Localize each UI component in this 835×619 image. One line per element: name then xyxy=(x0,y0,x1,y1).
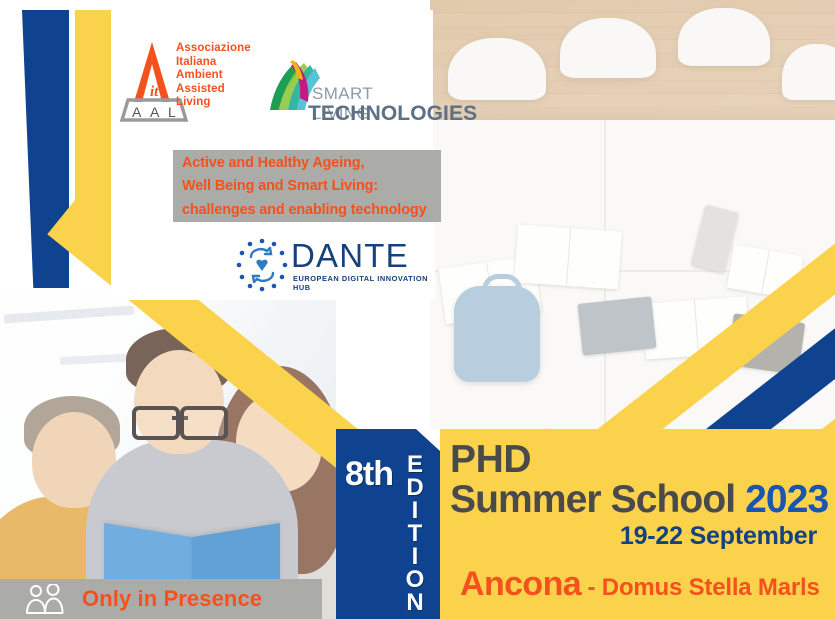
event-title-phd: PHD xyxy=(450,440,531,480)
aal-text-line: Ambient xyxy=(176,69,264,83)
aal-text-line: Italiana xyxy=(176,56,264,70)
dante-logo: DANTE EUROPEAN DIGITAL INNOVATION HUB xyxy=(233,237,433,293)
people-group-icon xyxy=(24,584,68,614)
event-dates: 19-22 September xyxy=(620,522,817,551)
event-theme-band: Active and Healthy Ageing, Well Being an… xyxy=(173,150,441,222)
event-venue: - Domus Stella Marls xyxy=(581,574,820,601)
edition-corner-notch xyxy=(416,429,440,451)
attendance-mode-label: Only in Presence xyxy=(82,586,262,612)
edition-number: 8th xyxy=(345,455,393,494)
aal-text-line: Living xyxy=(176,96,264,110)
edition-block: 8th E D I T I O N xyxy=(336,429,440,619)
edition-word: E D I T I O N xyxy=(398,453,432,614)
event-title-block: PHD Summer School 2023 19-22 September A… xyxy=(440,429,835,619)
dante-wordmark: DANTE xyxy=(291,238,409,274)
theme-line-2: Well Being and Smart Living: xyxy=(173,173,441,196)
students-at-table-photo xyxy=(430,0,835,437)
summer-school-label: Summer School xyxy=(450,478,745,521)
aitaal-logo-text: Associazione Italiana Ambient Assisted L… xyxy=(176,42,264,110)
photo-overlay-wash xyxy=(0,292,336,619)
poster-canvas: it A A L Associazione Italiana Ambient A… xyxy=(0,0,835,619)
attendance-mode-band: Only in Presence xyxy=(0,579,322,619)
smart-living-technologies-logo: SMART LIVING TECHNOLOGIES xyxy=(264,58,432,140)
event-year: 2023 xyxy=(745,478,828,521)
svg-text:L: L xyxy=(168,104,176,120)
svg-text:it: it xyxy=(150,84,159,100)
dante-subtitle: EUROPEAN DIGITAL INNOVATION HUB xyxy=(293,274,433,292)
svg-text:A: A xyxy=(132,104,142,120)
event-location: Ancona - Domus Stella Marls xyxy=(460,566,820,606)
aitaal-logo: it A A L Associazione Italiana Ambient A… xyxy=(118,38,260,130)
dante-eu-stars-icon xyxy=(233,237,291,293)
three-students-reading-photo xyxy=(0,292,336,619)
event-title-summer-school: Summer School 2023 xyxy=(450,479,828,521)
aal-text-line: Assisted xyxy=(176,83,264,97)
smart-living-line2: TECHNOLOGIES xyxy=(308,102,477,126)
theme-line-3: challenges and enabling technology xyxy=(173,197,441,220)
event-city: Ancona xyxy=(460,565,581,603)
svg-text:A: A xyxy=(150,104,160,120)
photo-overlay-wash xyxy=(430,0,835,437)
aal-text-line: Associazione xyxy=(176,42,264,56)
theme-line-1: Active and Healthy Ageing, xyxy=(173,150,441,173)
edition-letter: N xyxy=(406,589,423,616)
